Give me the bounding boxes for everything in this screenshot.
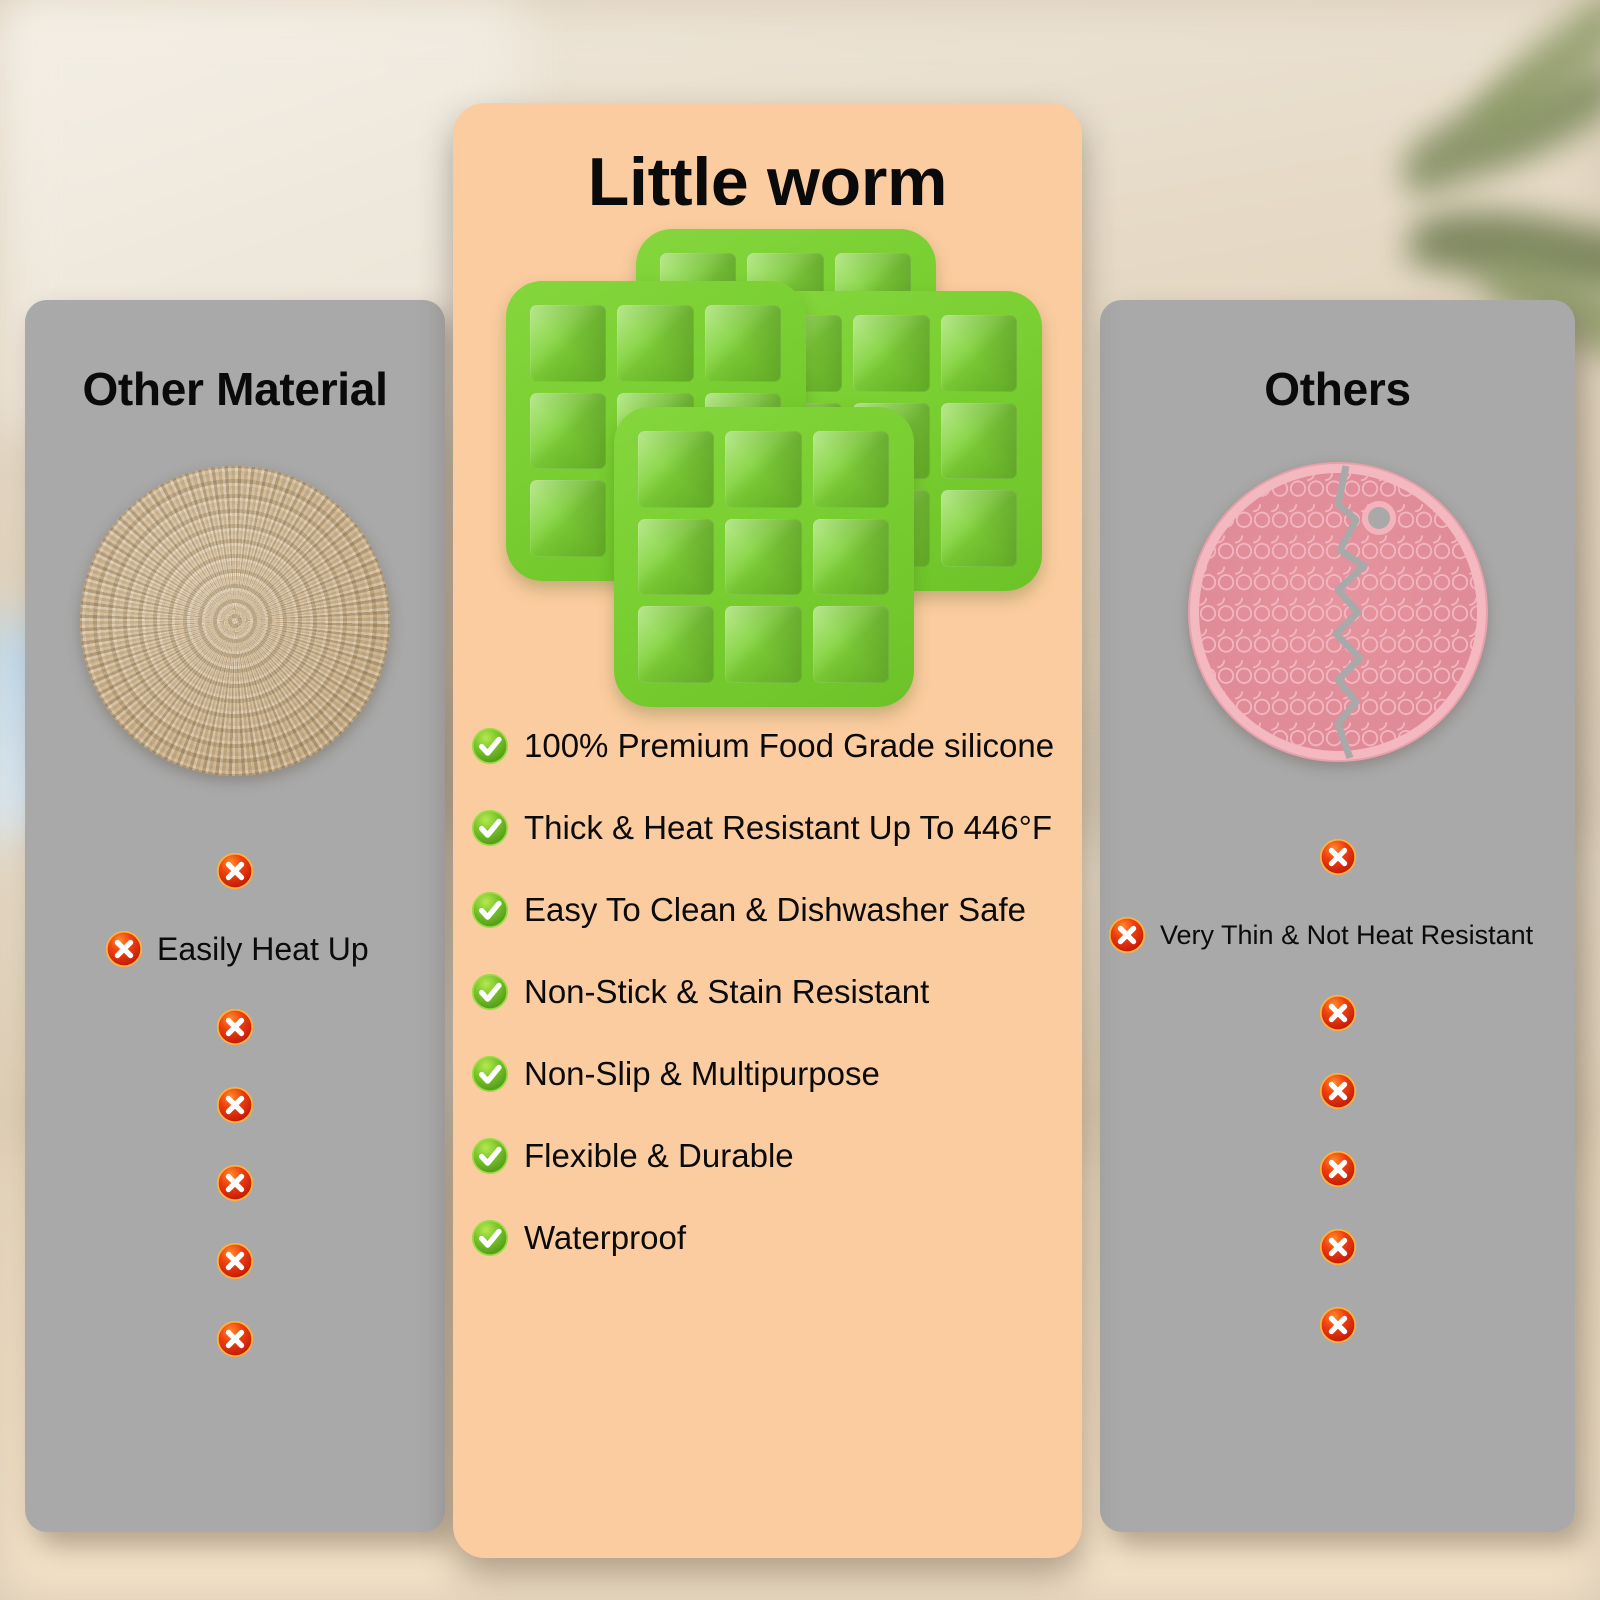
cross-icon [216,1164,254,1202]
comparison-panel-little-worm: Little worm [453,103,1082,1558]
woven-straw-placemat-image [80,466,390,776]
comparison-panel-other-material: Other Material Easily Heat Up [25,300,445,1532]
check-icon [471,973,509,1011]
cracked-honeycomb-trivet-image [1188,462,1488,762]
right-panel-title: Others [1100,362,1575,416]
silicone-trivet [614,407,914,707]
left-product-image-wrap [25,466,445,776]
cross-icon [216,1242,254,1280]
list-item-label: Flexible & Durable [524,1137,794,1175]
right-product-image-wrap [1100,462,1575,762]
list-item [1100,1208,1575,1286]
list-item-label: Very Thin & Not Heat Resistant [1160,920,1533,951]
list-item-label: Non-Slip & Multipurpose [524,1055,880,1093]
cross-icon [1108,916,1146,954]
list-item-label: Thick & Heat Resistant Up To 446°F [524,809,1052,847]
cross-icon [1319,1306,1357,1344]
list-item-label: Easily Heat Up [157,931,369,968]
page-title: Little worm [453,143,1082,221]
comparison-panel-others: Others Very Thin & Not Heat Resistant [1100,300,1575,1532]
cross-icon [1319,1228,1357,1266]
feature-list: 100% Premium Food Grade silicone Thick &… [453,705,1082,1279]
cross-icon [216,1320,254,1358]
list-item: Thick & Heat Resistant Up To 446°F [471,787,1082,869]
check-icon [471,891,509,929]
list-item: Easily Heat Up [25,910,445,988]
list-item: 100% Premium Food Grade silicone [471,705,1082,787]
cross-icon [216,852,254,890]
list-item [25,988,445,1066]
check-icon [471,1137,509,1175]
cross-icon [1319,838,1357,876]
list-item [1100,818,1575,896]
list-item-label: Waterproof [524,1219,686,1257]
silicone-trivet-stack-image [488,229,1048,659]
check-icon [471,727,509,765]
list-item [1100,1130,1575,1208]
cross-icon [105,930,143,968]
list-item [1100,974,1575,1052]
cross-icon [1319,994,1357,1032]
list-item: Very Thin & Not Heat Resistant [1100,896,1575,974]
check-icon [471,809,509,847]
list-item-label: 100% Premium Food Grade silicone [524,727,1054,765]
check-icon [471,1055,509,1093]
list-item: Flexible & Durable [471,1115,1082,1197]
cross-icon [1319,1150,1357,1188]
list-item [1100,1052,1575,1130]
list-item: Non-Stick & Stain Resistant [471,951,1082,1033]
list-item [25,1300,445,1378]
list-item: Non-Slip & Multipurpose [471,1033,1082,1115]
left-panel-title: Other Material [25,362,445,416]
list-item [25,1066,445,1144]
crack-icon [1188,462,1488,762]
list-item [25,1222,445,1300]
right-panel-row-list: Very Thin & Not Heat Resistant [1100,818,1575,1364]
list-item-label: Non-Stick & Stain Resistant [524,973,929,1011]
left-panel-row-list: Easily Heat Up [25,832,445,1378]
list-item-label: Easy To Clean & Dishwasher Safe [524,891,1026,929]
list-item [25,1144,445,1222]
list-item: Easy To Clean & Dishwasher Safe [471,869,1082,951]
cross-icon [1319,1072,1357,1110]
cross-icon [216,1008,254,1046]
check-icon [471,1219,509,1257]
list-item [25,832,445,910]
list-item: Waterproof [471,1197,1082,1279]
cross-icon [216,1086,254,1124]
list-item [1100,1286,1575,1364]
